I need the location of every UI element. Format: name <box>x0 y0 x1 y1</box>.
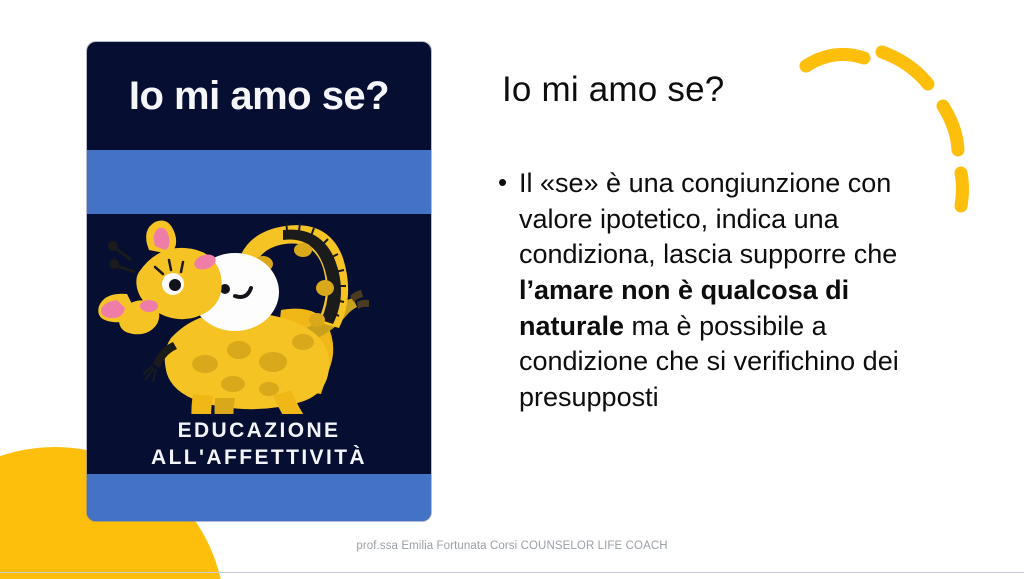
poster-card: Io mi amo se? <box>87 42 431 521</box>
body-bullet-list: Il «se» è una congiunzione con valore ip… <box>498 166 928 415</box>
card-band-bottom <box>87 474 431 521</box>
footer-divider <box>0 572 1024 573</box>
bullet-segment-1: Il «se» è una congiunzione con valore ip… <box>519 168 897 269</box>
arc-dash-4 <box>961 173 963 206</box>
card-band-top <box>87 150 431 214</box>
card-subtitle: EDUCAZIONE ALL'AFFETTIVITÀ <box>87 418 431 472</box>
slide-title: Io mi amo se? <box>502 70 962 110</box>
footer-credit: prof.ssa Emilia Fortunata Corsi COUNSELO… <box>0 540 1024 552</box>
card-title-area: Io mi amo se? <box>87 42 431 150</box>
bullet-item: Il «se» è una congiunzione con valore ip… <box>498 166 928 415</box>
card-subtitle-line-2: ALL'AFFETTIVITÀ <box>87 445 431 472</box>
slide-canvas: Io mi amo se? <box>0 0 1024 579</box>
card-subtitle-line-1: EDUCAZIONE <box>87 418 431 445</box>
arc-dash-1 <box>806 54 864 66</box>
arc-dash-3 <box>943 106 958 150</box>
giraffe-hugging-itself-illustration <box>87 214 431 414</box>
card-title: Io mi amo se? <box>129 76 389 116</box>
